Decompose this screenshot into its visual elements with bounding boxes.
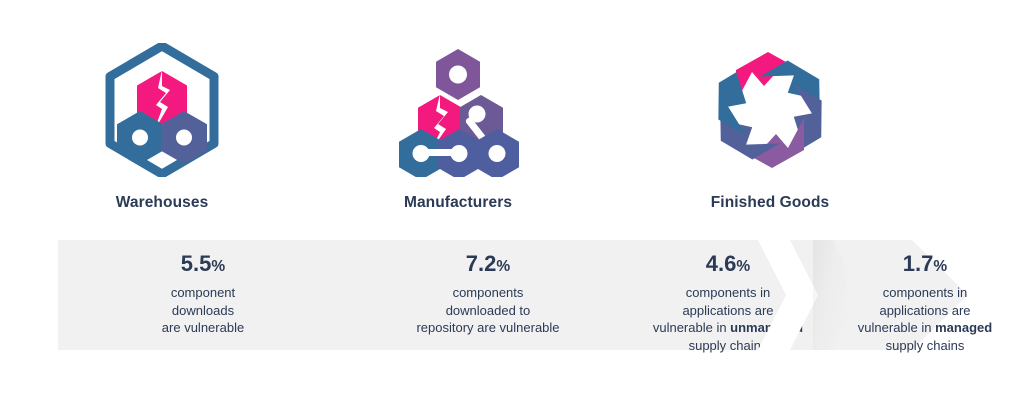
category-label-finished-goods: Finished Goods <box>655 194 885 212</box>
stat-managed-supply-chains: 1.7% components inapplications arevulner… <box>830 240 1020 350</box>
stat-downloaded-to-repository: 7.2% componentsdownloaded torepository a… <box>348 240 628 350</box>
stat-value: 7.2% <box>466 253 510 275</box>
warehouses-hexagon-icon <box>47 40 277 180</box>
supply-chain-infographic: Warehouses <box>0 0 1026 401</box>
stat-value: 1.7% <box>903 253 947 275</box>
stat-description: components inapplications arevulnerable … <box>858 284 992 354</box>
stat-description: componentdownloadsare vulnerable <box>162 284 244 337</box>
category-manufacturers: Manufacturers <box>343 40 573 212</box>
finished-goods-pinwheel-icon <box>655 40 885 180</box>
stat-value: 5.5% <box>181 253 225 275</box>
category-label-manufacturers: Manufacturers <box>343 194 573 212</box>
stat-value: 4.6% <box>706 253 750 275</box>
category-row: Warehouses <box>0 0 1026 232</box>
category-finished-goods: Finished Goods <box>655 40 885 212</box>
category-warehouses: Warehouses <box>47 40 277 212</box>
stat-description: componentsdownloaded torepository are vu… <box>416 284 559 337</box>
stat-component-downloads: 5.5% componentdownloadsare vulnerable <box>58 240 348 350</box>
stats-band: 5.5% componentdownloadsare vulnerable 7.… <box>58 240 968 350</box>
manufacturers-hexnuts-icon <box>343 40 573 180</box>
category-label-warehouses: Warehouses <box>47 194 277 212</box>
